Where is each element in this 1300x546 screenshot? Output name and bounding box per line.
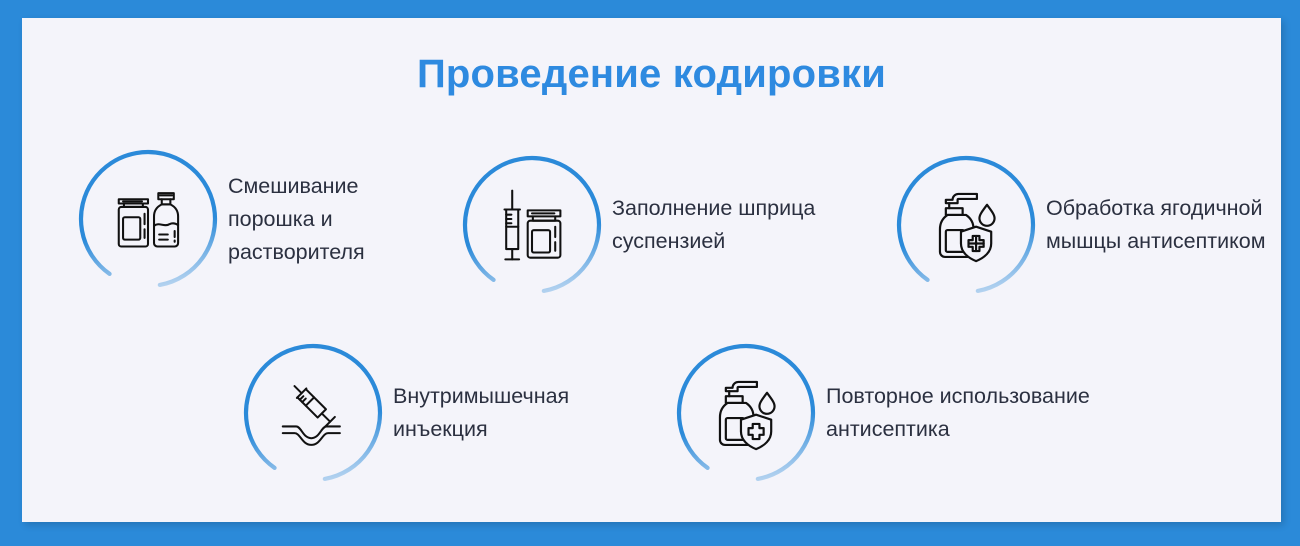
step-badge-2 (462, 155, 602, 295)
step-item-5: Повторное использование антисептика (676, 343, 1090, 483)
outer-blue-frame: Проведение кодировки (0, 0, 1300, 546)
step-label-5: Повторное использование антисептика (826, 380, 1090, 446)
page-title: Проведение кодировки (22, 52, 1281, 97)
step-item-3: Обработка ягодичной мышцы антисептиком (896, 155, 1266, 295)
step-badge-4 (243, 343, 383, 483)
two-vials-icon (78, 149, 218, 289)
step-label-3: Обработка ягодичной мышцы антисептиком (1046, 192, 1266, 258)
antiseptic-dispenser-shield-icon (676, 343, 816, 483)
step-label-1: Смешивание порошка и растворителя (228, 170, 365, 269)
step-badge-5 (676, 343, 816, 483)
step-item-4: Внутримышечная инъекция (243, 343, 569, 483)
intramuscular-injection-icon (243, 343, 383, 483)
content-panel: Проведение кодировки (22, 18, 1281, 522)
antiseptic-dispenser-shield-icon (896, 155, 1036, 295)
step-item-1: Смешивание порошка и растворителя (78, 149, 365, 289)
syringe-and-vial-icon (462, 155, 602, 295)
step-label-2: Заполнение шприца суспензией (612, 192, 815, 258)
step-badge-1 (78, 149, 218, 289)
step-label-4: Внутримышечная инъекция (393, 380, 569, 446)
step-item-2: Заполнение шприца суспензией (462, 155, 815, 295)
step-badge-3 (896, 155, 1036, 295)
